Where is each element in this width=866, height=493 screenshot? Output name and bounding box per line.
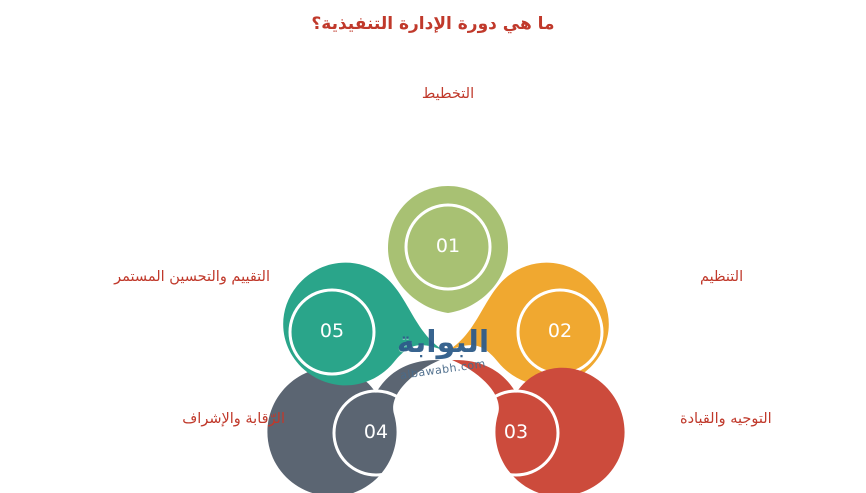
petal-02-label: التنظيم (700, 269, 743, 285)
petal-01-shape[interactable] (388, 186, 508, 313)
petal-01-label: التخطيط (348, 86, 548, 102)
page-title: ما هي دورة الإدارة التنفيذية؟ (0, 14, 866, 34)
cycle-diagram: 01 02 03 04 05 التخطيط التنظيم التوجيه و… (0, 60, 866, 493)
petal-03-label: التوجيه والقيادة (680, 411, 772, 427)
petal-05-label: التقييم والتحسين المستمر (0, 269, 270, 285)
petal-04-label: الرّقابة والإشراف (0, 411, 285, 427)
petal-03-shape[interactable] (452, 360, 625, 493)
